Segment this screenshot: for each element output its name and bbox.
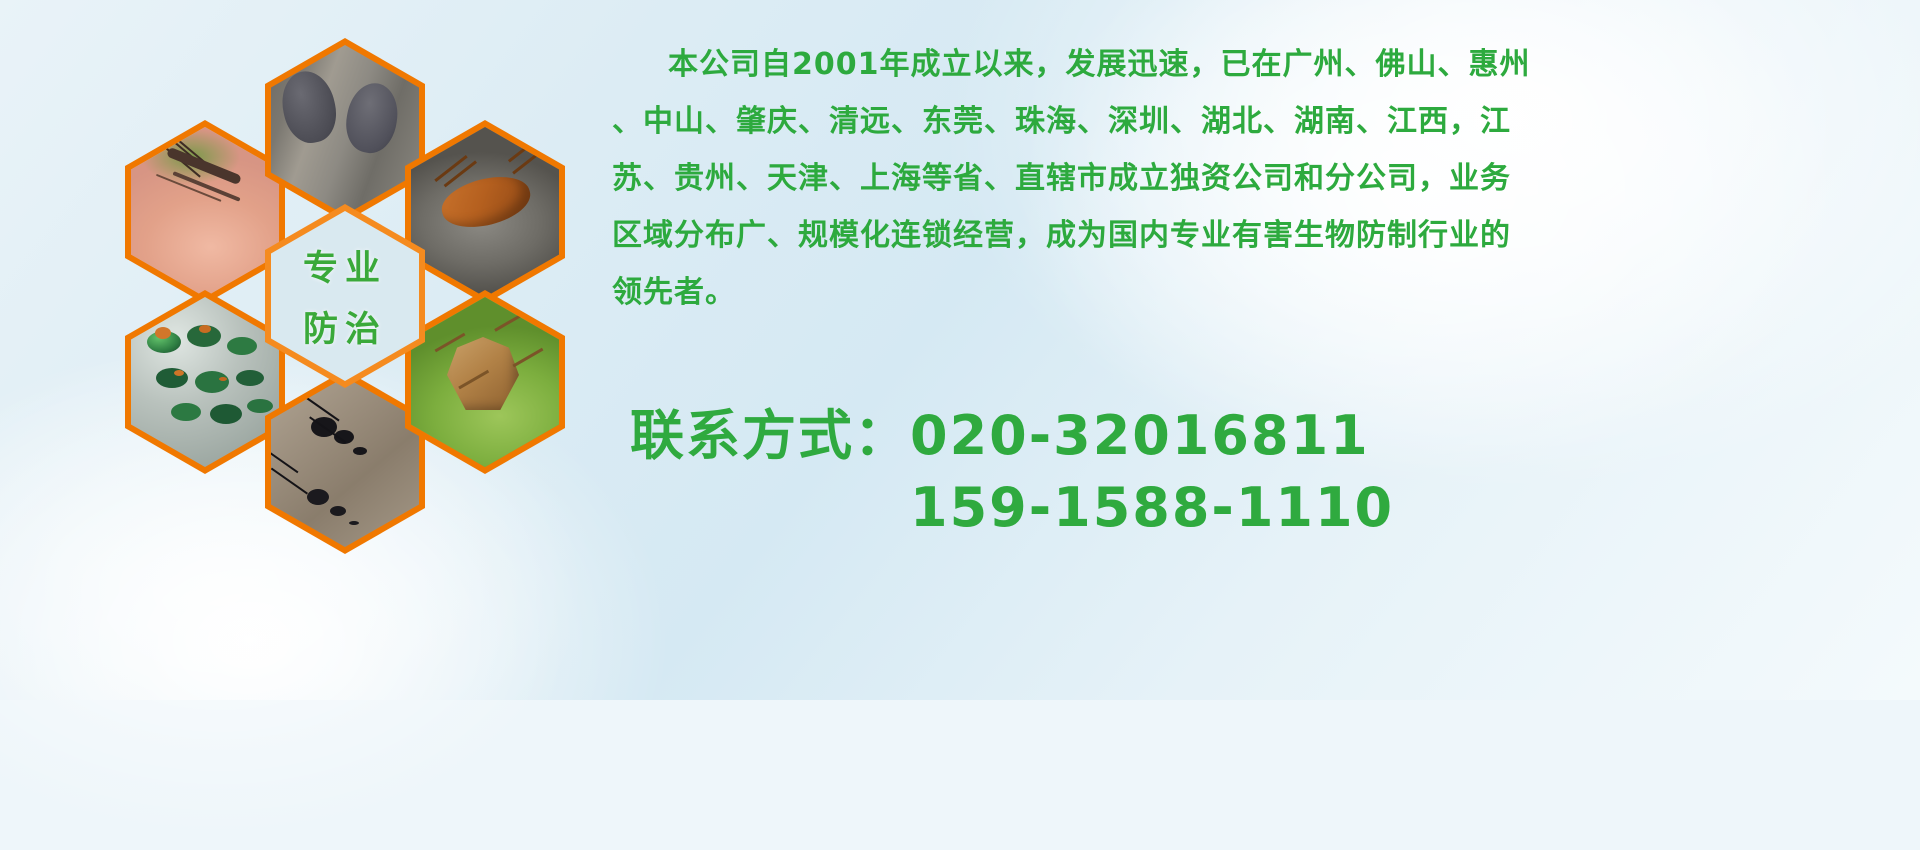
hexagon-ants-photo [265,370,425,554]
logo-line-2: 防治 [303,301,387,352]
paragraph-line: 苏、贵州、天津、上海等省、直辖市成立独资公司和分公司，业务 [612,150,1908,207]
hexagon-logo-inner: 专业 防治 [271,211,419,381]
text-column: 本公司自2001年成立以来，发展迅速，已在广州、佛山、惠州 、中山、肇庆、清远、… [612,0,1912,700]
hexagon-cockroach-inner [411,127,559,297]
hexagon-stinkbug-photo [405,290,565,474]
rat-icon [271,45,419,215]
hexagon-rats-inner [271,45,419,215]
banner-background: 专业 防治 本公司自2001年成立以来，发展迅速，已在广州、佛山、惠州 、中山、… [0,0,1920,700]
hexagon-stinkbug-inner [411,297,559,467]
logo-text-block: 专业 防治 [271,211,419,381]
hexagon-mosquito-inner [131,127,279,297]
hexagon-cockroach-photo [405,120,565,304]
contact-phone-landline[interactable]: 联系方式：020-32016811 [612,400,1908,472]
contact-block: 联系方式：020-32016811 159-1588-1110 [612,400,1908,544]
cockroach-icon [411,127,559,297]
ant-icon [271,377,419,547]
logo-line-1: 专业 [303,240,387,291]
paragraph-line: 本公司自2001年成立以来，发展迅速，已在广州、佛山、惠州 [612,36,1908,93]
hexagon-mosquito-photo [125,120,285,304]
contact-phone-mobile[interactable]: 159-1588-1110 [612,472,1908,544]
hexagon-photo-cluster: 专业 防治 [95,10,595,565]
paragraph-line: 领先者。 [612,264,1908,321]
stinkbug-icon [411,297,559,467]
hexagon-ants-inner [271,377,419,547]
company-description-paragraph: 本公司自2001年成立以来，发展迅速，已在广州、佛山、惠州 、中山、肇庆、清远、… [612,36,1908,321]
fly-icon [131,297,279,467]
hexagon-logo: 专业 防治 [265,204,425,388]
hexagon-rats-photo [265,38,425,222]
hexagon-flies-photo [125,290,285,474]
paragraph-line: 区域分布广、规模化连锁经营，成为国内专业有害生物防制行业的 [612,207,1908,264]
mosquito-icon [131,127,279,297]
hexagon-flies-inner [131,297,279,467]
paragraph-line: 、中山、肇庆、清远、东莞、珠海、深圳、湖北、湖南、江西，江 [612,93,1908,150]
